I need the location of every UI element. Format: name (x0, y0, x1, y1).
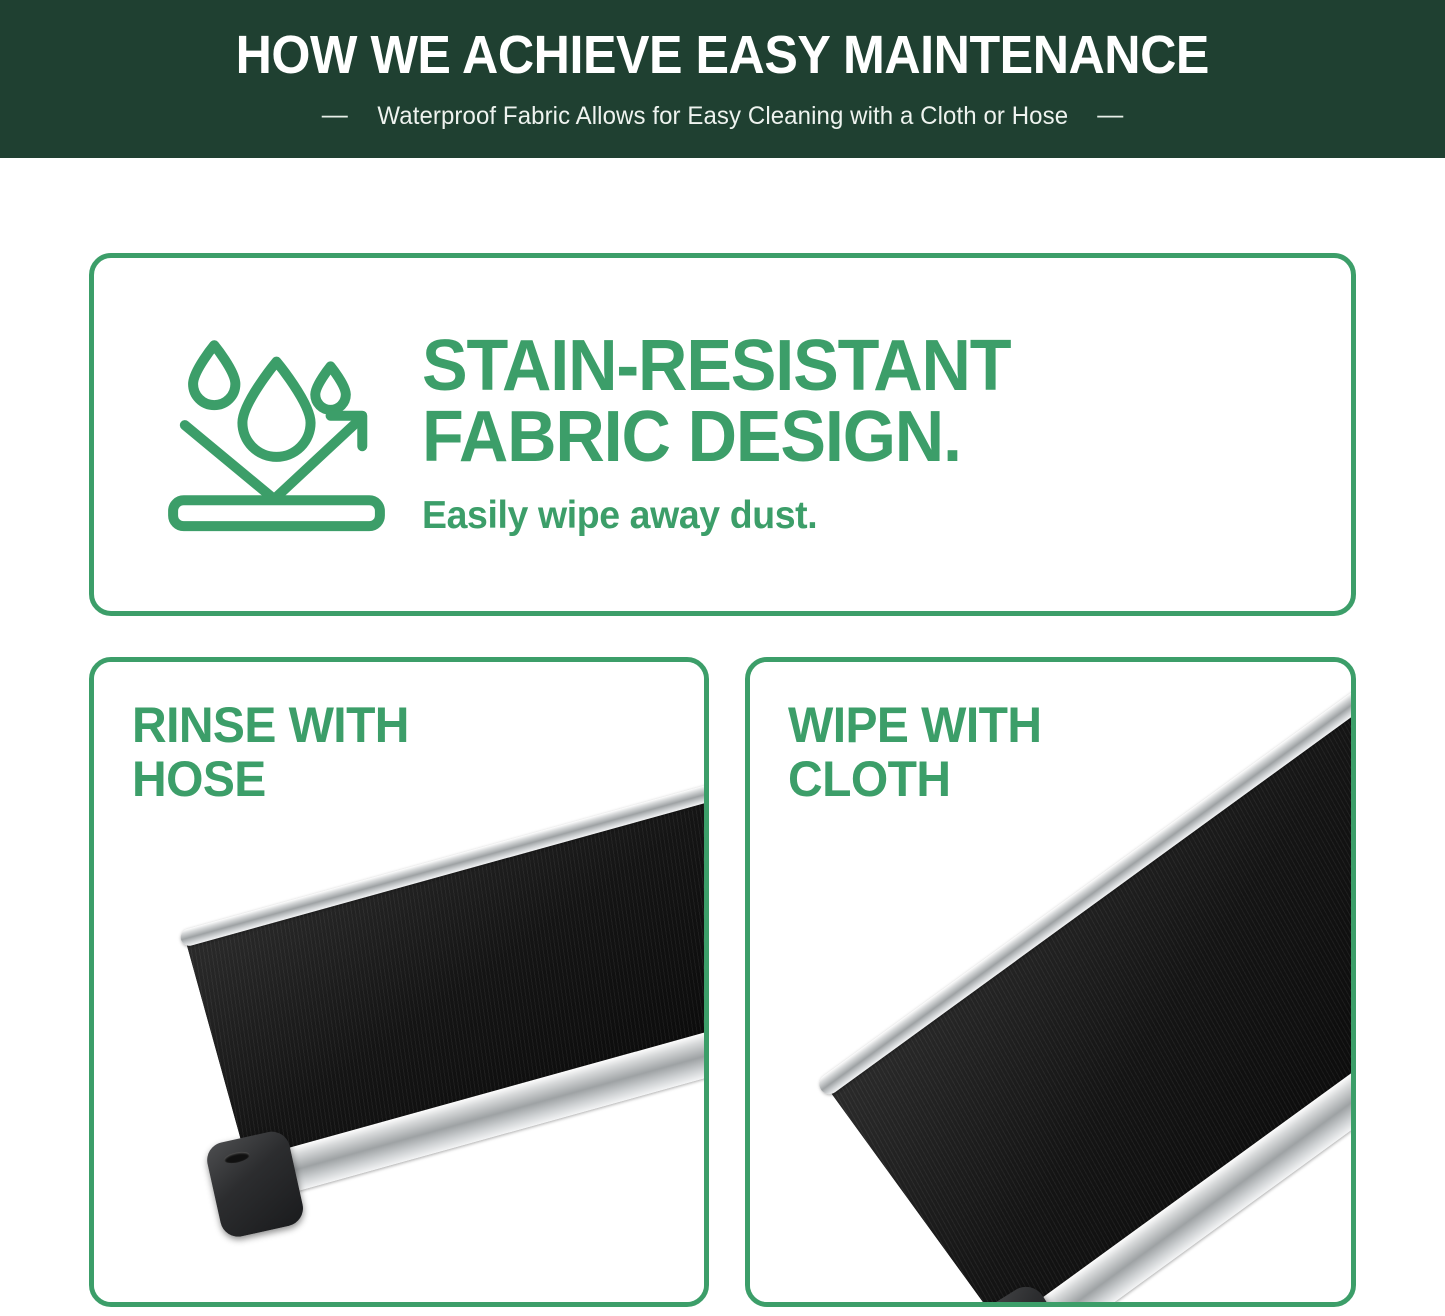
feature-headline-line-1: STAIN-RESISTANT (422, 331, 1010, 402)
header-subtitle-row: — Waterproof Fabric Allows for Easy Clea… (322, 102, 1124, 131)
page-subtitle: Waterproof Fabric Allows for Easy Cleani… (377, 102, 1068, 131)
feature-text-block: STAIN-RESISTANT FABRIC DESIGN. Easily wi… (404, 331, 1041, 538)
feature-card-stain-resistant: STAIN-RESISTANT FABRIC DESIGN. Easily wi… (89, 253, 1356, 616)
page-title: HOW WE ACHIEVE EASY MAINTENANCE (236, 28, 1209, 82)
hand-spraying-hose-on-pet-bed-photo (94, 662, 704, 1302)
hand-wiping-pet-bed-with-cloth-photo (750, 662, 1351, 1302)
feature-subheadline: Easily wipe away dust. (422, 494, 1017, 538)
dash-left-decoration: — (322, 101, 348, 127)
water-repellent-fabric-icon (149, 317, 404, 552)
step-card-rinse-with-hose: RINSE WITH HOSE (89, 657, 709, 1307)
header-band: HOW WE ACHIEVE EASY MAINTENANCE — Waterp… (0, 0, 1445, 158)
step-card-wipe-with-cloth: WIPE WITH CLOTH (745, 657, 1356, 1307)
feature-headline-line-2: FABRIC DESIGN. (422, 402, 1010, 473)
dash-right-decoration: — (1097, 101, 1123, 127)
